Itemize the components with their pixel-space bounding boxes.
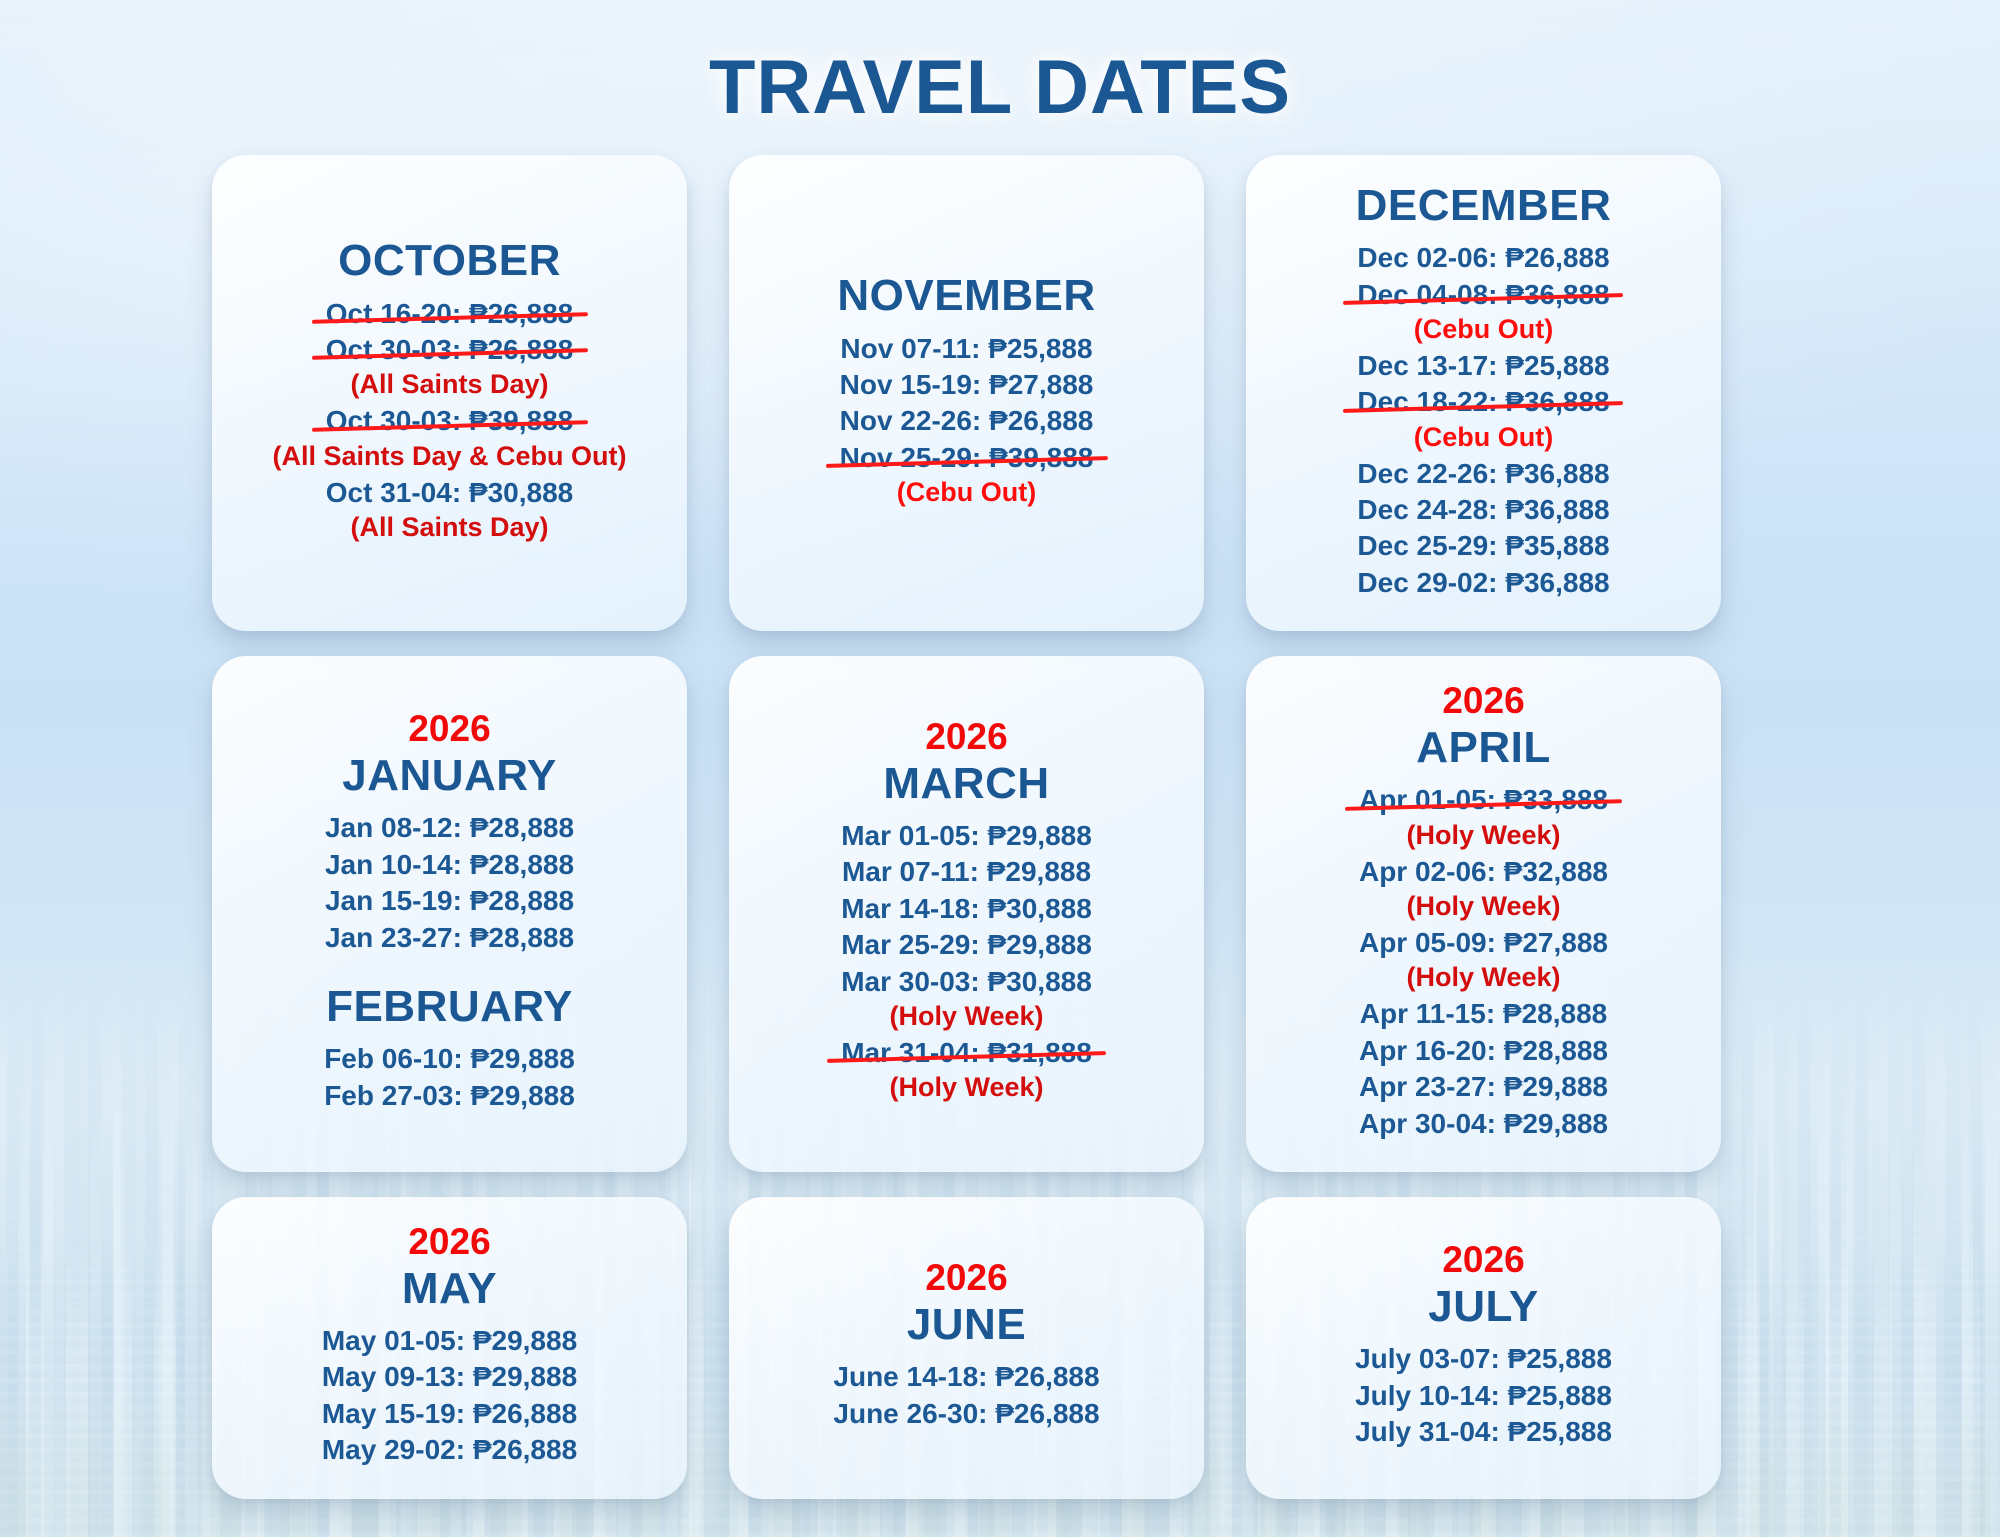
date-entry: Feb 27-03: ₱29,888 — [318, 1078, 581, 1114]
date-entry-struck: Dec 04-08: ₱36,888 — [1351, 277, 1615, 313]
card-month-title: JANUARY — [230, 751, 669, 800]
date-entry: June 14-18: ₱26,888 — [827, 1359, 1105, 1395]
date-entry: Jan 08-12: ₱28,888 — [319, 810, 580, 846]
date-entry: Feb 06-10: ₱29,888 — [318, 1041, 581, 1077]
date-entry-row: June 26-30: ₱26,888 — [747, 1396, 1186, 1432]
date-entry-list: Nov 07-11: ₱25,888Nov 15-19: ₱27,888Nov … — [747, 331, 1186, 512]
date-entry-row: July 10-14: ₱25,888 — [1264, 1378, 1703, 1414]
date-entry: Dec 24-28: ₱36,888 — [1351, 492, 1615, 528]
card-year-label: 2026 — [1264, 1241, 1703, 1280]
date-entry-note: (Cebu Out) — [1264, 421, 1703, 454]
month-card-march: 2026MARCHMar 01-05: ₱29,888Mar 07-11: ₱2… — [729, 656, 1204, 1172]
card-month-title: JULY — [1264, 1282, 1703, 1331]
date-entry-row: May 09-13: ₱29,888 — [230, 1359, 669, 1395]
month-card-grid: OCTOBEROct 16-20: ₱26,888Oct 30-03: ₱26,… — [212, 155, 1792, 1499]
page-title: TRAVEL DATES — [0, 44, 2000, 131]
date-entry-row: Feb 27-03: ₱29,888 — [230, 1078, 669, 1114]
date-entry-row: Dec 04-08: ₱36,888 — [1264, 277, 1703, 313]
date-entry-row: Apr 30-04: ₱29,888 — [1264, 1106, 1703, 1142]
date-entry-row: Mar 01-05: ₱29,888 — [747, 818, 1186, 854]
date-entry-row: Feb 06-10: ₱29,888 — [230, 1041, 669, 1077]
date-entry-note: (All Saints Day) — [230, 368, 669, 401]
date-entry-row: Dec 02-06: ₱26,888 — [1264, 240, 1703, 276]
date-entry: May 29-02: ₱26,888 — [316, 1432, 583, 1468]
date-entry-row: Jan 15-19: ₱28,888 — [230, 883, 669, 919]
date-entry-row: Oct 31-04: ₱30,888 — [230, 475, 669, 511]
date-entry: Mar 14-18: ₱30,888 — [835, 891, 1098, 927]
date-entry-row: June 14-18: ₱26,888 — [747, 1359, 1186, 1395]
date-entry-row: Oct 30-03: ₱26,888 — [230, 332, 669, 368]
date-entry-row: July 03-07: ₱25,888 — [1264, 1341, 1703, 1377]
date-entry: July 10-14: ₱25,888 — [1349, 1378, 1618, 1414]
date-entry-struck: Dec 18-22: ₱36,888 — [1351, 384, 1615, 420]
date-entry: Mar 30-03: ₱30,888 — [835, 964, 1098, 1000]
card-year-label: 2026 — [230, 710, 669, 749]
date-entry-row: Nov 07-11: ₱25,888 — [747, 331, 1186, 367]
date-entry: Apr 16-20: ₱28,888 — [1353, 1033, 1614, 1069]
card-year-label: 2026 — [747, 1259, 1186, 1298]
month-card-october: OCTOBEROct 16-20: ₱26,888Oct 30-03: ₱26,… — [212, 155, 687, 631]
month-card-november: NOVEMBERNov 07-11: ₱25,888Nov 15-19: ₱27… — [729, 155, 1204, 631]
month-card-december: DECEMBERDec 02-06: ₱26,888Dec 04-08: ₱36… — [1246, 155, 1721, 631]
month-card-january-february: 2026JANUARYJan 08-12: ₱28,888Jan 10-14: … — [212, 656, 687, 1172]
date-entry-list: Jan 08-12: ₱28,888Jan 10-14: ₱28,888Jan … — [230, 810, 669, 956]
date-entry-row: May 01-05: ₱29,888 — [230, 1323, 669, 1359]
date-entry-row: Dec 24-28: ₱36,888 — [1264, 492, 1703, 528]
date-entry-row: Nov 22-26: ₱26,888 — [747, 403, 1186, 439]
date-entry-row: Dec 13-17: ₱25,888 — [1264, 348, 1703, 384]
date-entry: Dec 25-29: ₱35,888 — [1351, 528, 1615, 564]
date-entry-row: Apr 11-15: ₱28,888 — [1264, 996, 1703, 1032]
card-month-title: MARCH — [747, 759, 1186, 808]
date-entry-note: (All Saints Day & Cebu Out) — [230, 440, 669, 473]
card-month-title: OCTOBER — [230, 236, 669, 285]
date-entry-row: Jan 23-27: ₱28,888 — [230, 920, 669, 956]
date-entry: Mar 25-29: ₱29,888 — [835, 927, 1098, 963]
date-entry-row: Apr 16-20: ₱28,888 — [1264, 1033, 1703, 1069]
date-entry-list: May 01-05: ₱29,888May 09-13: ₱29,888May … — [230, 1323, 669, 1469]
date-entry-row: Mar 31-04: ₱31,888 — [747, 1035, 1186, 1071]
date-entry-row: Mar 25-29: ₱29,888 — [747, 927, 1186, 963]
date-entry-list: July 03-07: ₱25,888July 10-14: ₱25,888Ju… — [1264, 1341, 1703, 1450]
date-entry: Jan 15-19: ₱28,888 — [319, 883, 580, 919]
date-entry-row: Mar 30-03: ₱30,888 — [747, 964, 1186, 1000]
date-entry-row: Nov 25-29: ₱39,888 — [747, 440, 1186, 476]
date-entry-note: (Holy Week) — [1264, 819, 1703, 852]
date-entry-row: May 29-02: ₱26,888 — [230, 1432, 669, 1468]
date-entry-row: Jan 08-12: ₱28,888 — [230, 810, 669, 846]
date-entry: May 15-19: ₱26,888 — [316, 1396, 583, 1432]
date-entry-struck: Oct 30-03: ₱26,888 — [320, 332, 580, 368]
date-entry: Apr 02-06: ₱32,888 — [1353, 854, 1614, 890]
card-second-month-title: FEBRUARY — [230, 982, 669, 1031]
date-entry: Apr 11-15: ₱28,888 — [1354, 996, 1614, 1032]
date-entry: July 31-04: ₱25,888 — [1349, 1414, 1618, 1450]
date-entry-row: Apr 23-27: ₱29,888 — [1264, 1069, 1703, 1105]
date-entry-struck: Oct 30-03: ₱39,888 — [320, 403, 580, 439]
date-entry: Dec 29-02: ₱36,888 — [1351, 565, 1615, 601]
date-entry: Dec 22-26: ₱36,888 — [1351, 456, 1615, 492]
date-entry: Jan 23-27: ₱28,888 — [319, 920, 580, 956]
date-entry-note: (All Saints Day) — [230, 511, 669, 544]
date-entry: Nov 22-26: ₱26,888 — [834, 403, 1100, 439]
date-entry: July 03-07: ₱25,888 — [1349, 1341, 1618, 1377]
date-entry-note: (Cebu Out) — [747, 476, 1186, 509]
month-card-july: 2026JULYJuly 03-07: ₱25,888July 10-14: ₱… — [1246, 1197, 1721, 1499]
card-month-title: MAY — [230, 1264, 669, 1313]
month-card-may: 2026MAYMay 01-05: ₱29,888May 09-13: ₱29,… — [212, 1197, 687, 1499]
date-entry: Apr 23-27: ₱29,888 — [1353, 1069, 1614, 1105]
card-year-label: 2026 — [747, 718, 1186, 757]
date-entry-row: Apr 02-06: ₱32,888 — [1264, 854, 1703, 890]
date-entry: Dec 13-17: ₱25,888 — [1351, 348, 1615, 384]
card-year-label: 2026 — [230, 1223, 669, 1262]
date-entry: May 01-05: ₱29,888 — [316, 1323, 583, 1359]
date-entry: Dec 02-06: ₱26,888 — [1351, 240, 1615, 276]
date-entry: June 26-30: ₱26,888 — [827, 1396, 1105, 1432]
date-entry-list: Mar 01-05: ₱29,888Mar 07-11: ₱29,888Mar … — [747, 818, 1186, 1106]
date-entry: May 09-13: ₱29,888 — [316, 1359, 583, 1395]
date-entry: Nov 15-19: ₱27,888 — [834, 367, 1100, 403]
date-entry-row: Oct 16-20: ₱26,888 — [230, 296, 669, 332]
date-entry-note: (Holy Week) — [747, 1071, 1186, 1104]
date-entry-list: Oct 16-20: ₱26,888Oct 30-03: ₱26,888(All… — [230, 296, 669, 546]
date-entry-row: May 15-19: ₱26,888 — [230, 1396, 669, 1432]
date-entry-row: Dec 25-29: ₱35,888 — [1264, 528, 1703, 564]
date-entry-struck: Oct 16-20: ₱26,888 — [320, 296, 580, 332]
date-entry-row: Oct 30-03: ₱39,888 — [230, 403, 669, 439]
date-entry-row: Apr 01-05: ₱33,888 — [1264, 782, 1703, 818]
card-month-title: DECEMBER — [1264, 181, 1703, 230]
date-entry-row: Dec 22-26: ₱36,888 — [1264, 456, 1703, 492]
date-entry-struck: Nov 25-29: ₱39,888 — [834, 440, 1100, 476]
date-entry-row: Mar 14-18: ₱30,888 — [747, 891, 1186, 927]
date-entry-row: Dec 29-02: ₱36,888 — [1264, 565, 1703, 601]
date-entry-list: June 14-18: ₱26,888June 26-30: ₱26,888 — [747, 1359, 1186, 1432]
date-entry: Nov 07-11: ₱25,888 — [834, 331, 1098, 367]
date-entry-note: (Cebu Out) — [1264, 313, 1703, 346]
second-date-entry-list: Feb 06-10: ₱29,888Feb 27-03: ₱29,888 — [230, 1041, 669, 1114]
date-entry-struck: Mar 31-04: ₱31,888 — [835, 1035, 1098, 1071]
month-card-june: 2026JUNEJune 14-18: ₱26,888June 26-30: ₱… — [729, 1197, 1204, 1499]
date-entry-note: (Holy Week) — [1264, 890, 1703, 923]
card-year-label: 2026 — [1264, 682, 1703, 721]
date-entry: Oct 31-04: ₱30,888 — [320, 475, 580, 511]
date-entry-note: (Holy Week) — [747, 1000, 1186, 1033]
card-month-title: APRIL — [1264, 723, 1703, 772]
travel-dates-poster: TRAVEL DATES OCTOBEROct 16-20: ₱26,888Oc… — [0, 0, 2000, 1537]
date-entry-list: Apr 01-05: ₱33,888(Holy Week)Apr 02-06: … — [1264, 782, 1703, 1142]
month-card-april: 2026APRILApr 01-05: ₱33,888(Holy Week)Ap… — [1246, 656, 1721, 1172]
date-entry-row: July 31-04: ₱25,888 — [1264, 1414, 1703, 1450]
date-entry-row: Nov 15-19: ₱27,888 — [747, 367, 1186, 403]
date-entry-note: (Holy Week) — [1264, 961, 1703, 994]
card-month-title: JUNE — [747, 1300, 1186, 1349]
date-entry-row: Dec 18-22: ₱36,888 — [1264, 384, 1703, 420]
card-month-title: NOVEMBER — [747, 271, 1186, 320]
date-entry: Jan 10-14: ₱28,888 — [319, 847, 580, 883]
date-entry: Apr 05-09: ₱27,888 — [1353, 925, 1614, 961]
date-entry-row: Apr 05-09: ₱27,888 — [1264, 925, 1703, 961]
date-entry-struck: Apr 01-05: ₱33,888 — [1353, 782, 1614, 818]
date-entry-row: Jan 10-14: ₱28,888 — [230, 847, 669, 883]
date-entry: Mar 07-11: ₱29,888 — [836, 854, 1097, 890]
date-entry: Apr 30-04: ₱29,888 — [1353, 1106, 1614, 1142]
date-entry: Mar 01-05: ₱29,888 — [835, 818, 1098, 854]
date-entry-list: Dec 02-06: ₱26,888Dec 04-08: ₱36,888(Ceb… — [1264, 240, 1703, 601]
date-entry-row: Mar 07-11: ₱29,888 — [747, 854, 1186, 890]
